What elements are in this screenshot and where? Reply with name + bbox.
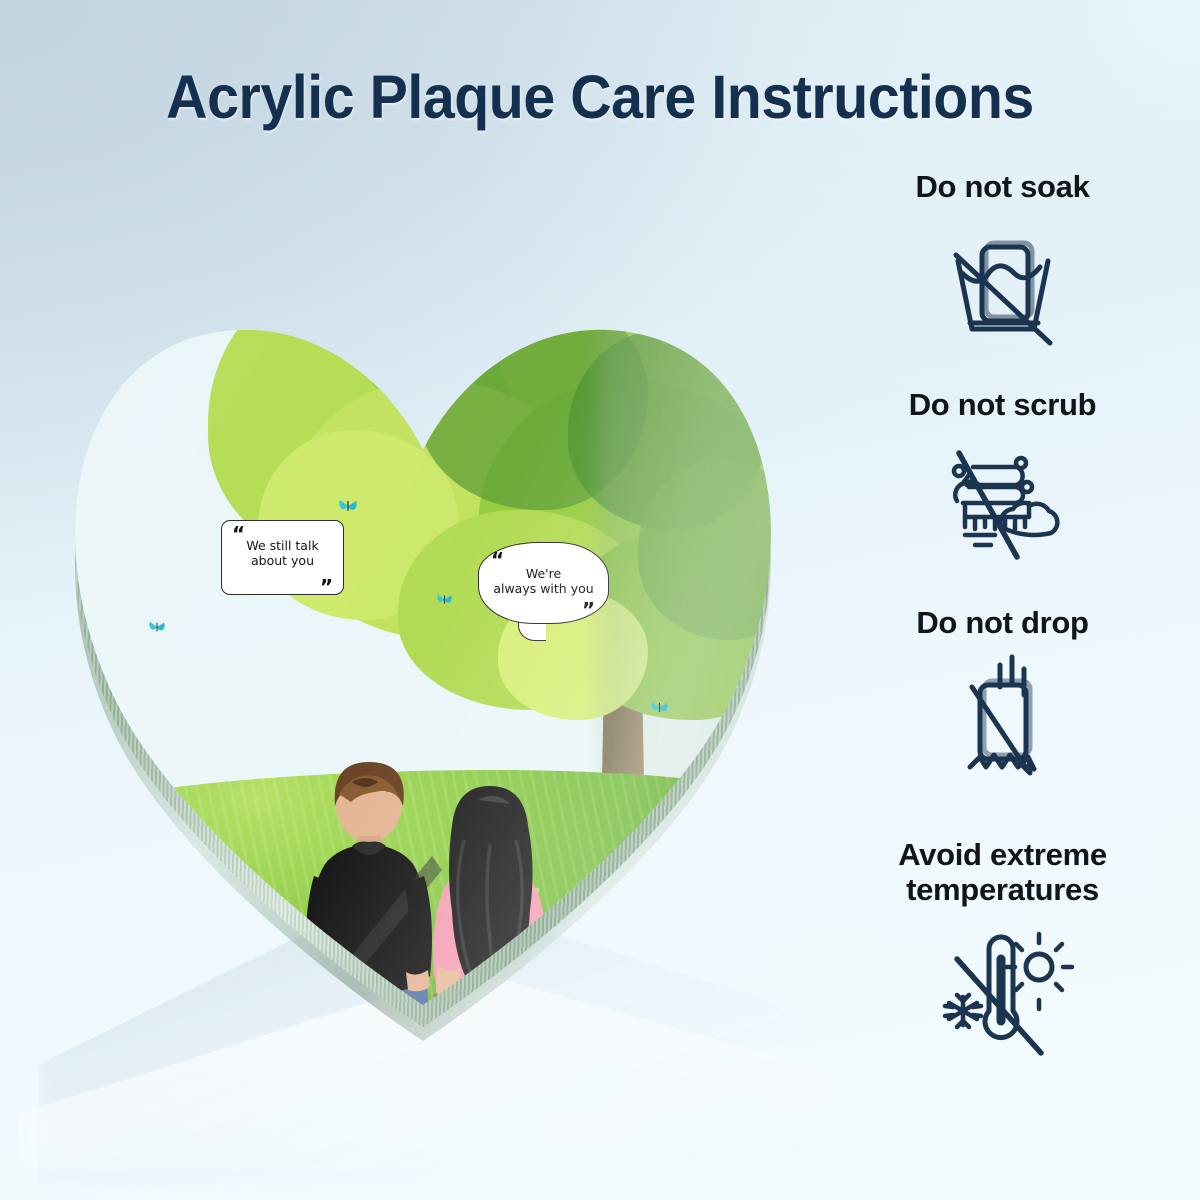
page-title: Acrylic Plaque Care Instructions [36, 62, 1164, 132]
care-label: Do not scrub [815, 388, 1190, 423]
no-drop-icon [815, 647, 1190, 787]
care-label: Avoid extreme temperatures [815, 838, 1190, 907]
care-item-do-not-soak: Do not soak [815, 170, 1190, 351]
open-quote: “ [232, 523, 245, 547]
care-item-avoid-extreme-temperatures: Avoid extreme temperatures [815, 838, 1190, 1063]
bubble-text-line2: about you [222, 554, 343, 569]
tree-foliage [318, 220, 478, 370]
butterfly-icon [338, 498, 356, 513]
care-label-line2: temperatures [815, 873, 1190, 908]
acrylic-plaque: “ We still talk about you ” “ We're alwa… [18, 150, 828, 1150]
care-label: Do not soak [815, 170, 1190, 205]
plaque-front-face: “ We still talk about you ” “ We're alwa… [18, 150, 828, 1050]
speech-bubble-1: “ We still talk about you ” [221, 520, 344, 595]
no-extreme-temperature-icon [815, 913, 1190, 1063]
tree-branch-mid [418, 226, 648, 268]
care-item-do-not-drop: Do not drop [815, 606, 1190, 787]
care-label: Do not drop [815, 606, 1190, 641]
open-quote: “ [491, 549, 504, 573]
no-soak-icon [815, 211, 1190, 351]
care-label-line1: Avoid extreme [815, 838, 1190, 873]
tree-branch-high [520, 264, 675, 327]
no-scrub-icon [815, 429, 1190, 569]
care-item-do-not-scrub: Do not scrub [815, 388, 1190, 569]
